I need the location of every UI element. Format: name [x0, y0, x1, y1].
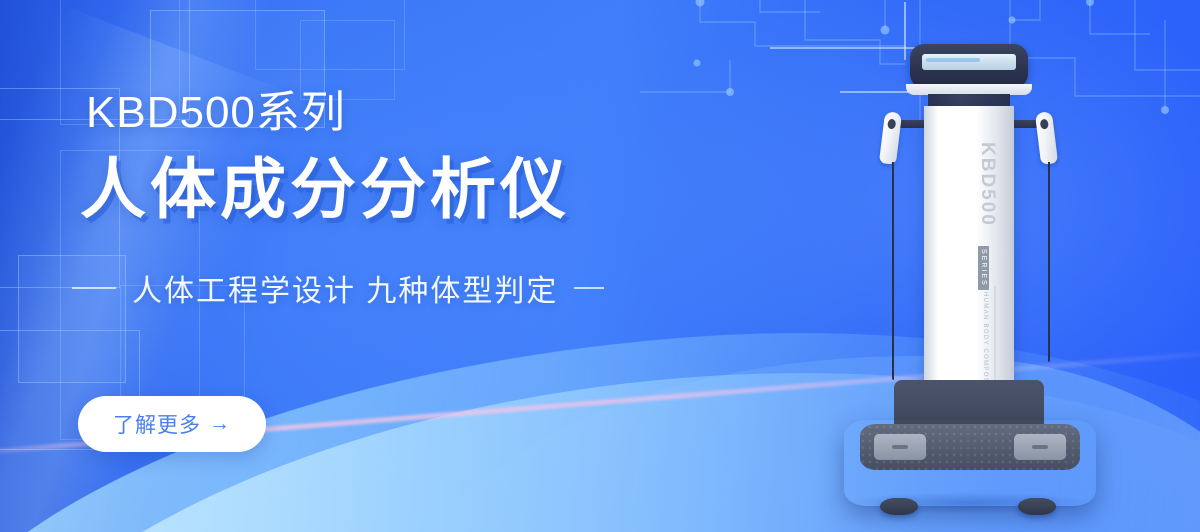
device-foot-electrode-left [874, 434, 926, 460]
electrode-contact-dot-left [887, 119, 896, 130]
device-series-badge: SERIES [978, 246, 989, 290]
device-foot-right [1018, 498, 1056, 515]
page-title: 人体成分分析仪 [80, 136, 570, 232]
banner-text-content: KBD500系列 人体成分分析仪 人体工程学设计 九种体型判定 了解更多 → [0, 0, 700, 532]
electrode-contact-dot-right [1040, 119, 1049, 130]
foot-electrode-mark-right [1032, 445, 1048, 449]
device-column: KBD500 SERIES HUMAN BODY COMPOSITION ANA… [924, 106, 1014, 396]
device-model-label: KBD500 [976, 142, 998, 227]
arrow-right-icon: → [209, 412, 231, 436]
learn-more-label: 了解更多 [113, 409, 201, 439]
subtitle-dash-right [574, 287, 604, 289]
device-platform-front-rim [862, 470, 1078, 492]
device-foot-electrode-right [1014, 434, 1066, 460]
device-platform [844, 420, 1096, 506]
learn-more-button[interactable]: 了解更多 → [78, 396, 266, 452]
foot-electrode-mark-left [892, 445, 908, 449]
banner-subtitle: 人体工程学设计 九种体型判定 [132, 266, 558, 310]
device-label-rule [994, 286, 996, 390]
device-hand-electrode-right [1035, 111, 1058, 165]
device-cable-right [1048, 162, 1050, 362]
device-platform-center-plate [952, 442, 986, 458]
product-series-title: KBD500系列 [86, 76, 346, 140]
body-composition-analyzer-illustration: KBD500 SERIES HUMAN BODY COMPOSITION ANA… [836, 44, 1104, 524]
device-cable-left [892, 162, 894, 380]
device-screen [922, 54, 1016, 70]
product-hero-banner: KBD500 SERIES HUMAN BODY COMPOSITION ANA… [0, 0, 1200, 532]
device-hand-electrode-left [879, 111, 902, 165]
device-display-head [910, 44, 1028, 88]
device-screen-text-line [926, 58, 980, 62]
subtitle-row: 人体工程学设计 九种体型判定 [72, 266, 604, 310]
device-foot-left [880, 498, 918, 515]
subtitle-dash-left [72, 287, 116, 289]
